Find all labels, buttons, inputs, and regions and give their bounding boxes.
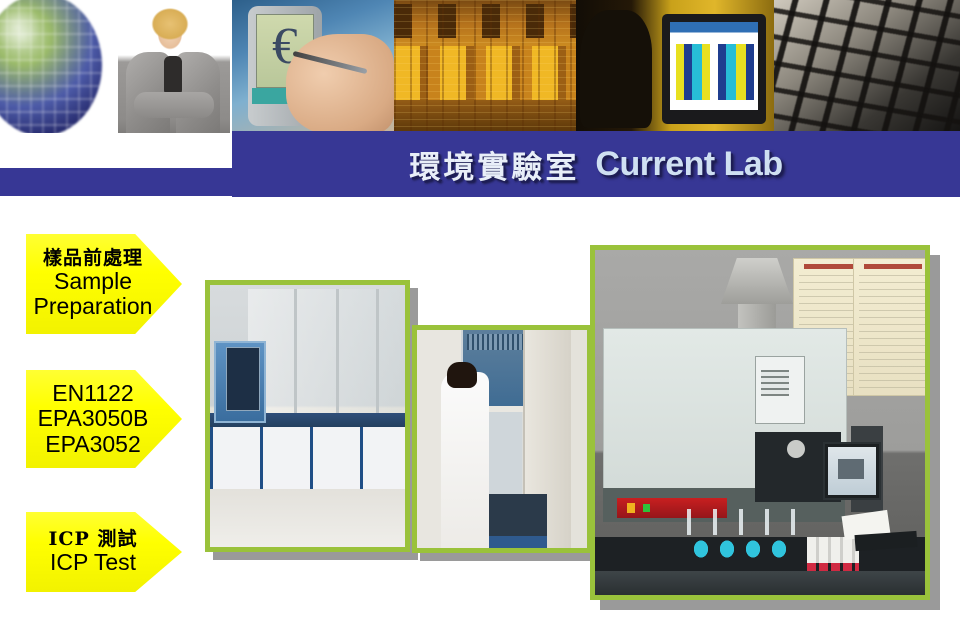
photo-detail <box>595 571 925 595</box>
photo-detail <box>487 494 547 538</box>
photo-detail <box>226 347 260 411</box>
photo-detail <box>807 537 859 563</box>
callout-body: 樣品前處理 Sample Preparation <box>26 234 182 334</box>
callout-line: EPA3050B <box>38 406 149 431</box>
callout-line: Sample <box>54 269 132 294</box>
photo-detail <box>164 56 182 96</box>
callout-icp-test[interactable]: ICP 測試 ICP Test <box>26 512 182 592</box>
photo-detail <box>687 521 799 561</box>
header-photo-strip: € <box>232 0 960 133</box>
callout-sample-preparation[interactable]: 樣品前處理 Sample Preparation <box>26 234 182 334</box>
callout-line: Preparation <box>34 294 153 319</box>
photo-detail <box>828 447 876 495</box>
photo-detail <box>394 0 576 133</box>
circuit-board-photo <box>394 0 576 133</box>
brand-panel <box>0 0 232 133</box>
photo-detail <box>853 258 930 396</box>
photo-detail <box>823 442 881 500</box>
callout-body: ICP 測試 ICP Test <box>26 512 182 592</box>
photo-detail <box>580 10 652 128</box>
page-title: 環境實驗室 Current Lab <box>232 131 960 197</box>
keyboard-photo <box>774 0 960 133</box>
photo-detail <box>864 264 922 269</box>
callout-line: EPA3052 <box>45 432 140 457</box>
photo-detail <box>676 44 754 100</box>
callout-base <box>30 468 178 481</box>
callout-line: ICP Test <box>50 550 136 575</box>
banner-left-bar <box>0 168 233 196</box>
photo-detail <box>774 0 960 133</box>
photo-detail <box>210 489 405 547</box>
photo-detail <box>859 275 927 389</box>
photo-detail <box>787 440 805 458</box>
title-banner: 環境實驗室 Current Lab <box>232 131 960 197</box>
lab-bench-photo <box>205 280 410 552</box>
monitor-user-photo <box>576 0 774 133</box>
businesswoman-photo <box>118 0 230 133</box>
photo-detail <box>487 536 547 548</box>
photo-detail <box>134 92 214 118</box>
callout-methods[interactable]: EN1122 EPA3050B EPA3052 <box>26 370 182 468</box>
photo-detail <box>294 289 297 415</box>
pda-euro-photo: € <box>232 0 394 133</box>
callout-base <box>30 592 178 605</box>
technician-photo <box>412 325 592 553</box>
callout-line: EN1122 <box>52 381 133 406</box>
photo-detail <box>643 504 650 512</box>
icp-instrument-photo <box>590 245 930 600</box>
photo-detail <box>336 289 339 415</box>
photo-detail <box>441 372 489 553</box>
photo-detail <box>627 503 635 513</box>
photo-detail <box>670 22 758 110</box>
callout-body: EN1122 EPA3050B EPA3052 <box>26 370 182 468</box>
photo-detail <box>761 370 789 396</box>
page-title-en: Current Lab <box>595 145 782 184</box>
callout-line: 樣品前處理 <box>43 248 143 269</box>
photo-detail <box>376 289 379 415</box>
photo-detail <box>286 34 394 133</box>
page-title-cn: 環境實驗室 <box>409 142 579 187</box>
photo-detail <box>447 362 477 388</box>
callout-line: ICP 測試 <box>49 529 138 550</box>
photo-detail <box>807 563 859 571</box>
callout-base <box>30 334 178 347</box>
header-zone: € 環境實驗室 Current Lab <box>0 0 960 200</box>
globe-icon <box>0 0 102 133</box>
photo-detail <box>248 289 405 417</box>
